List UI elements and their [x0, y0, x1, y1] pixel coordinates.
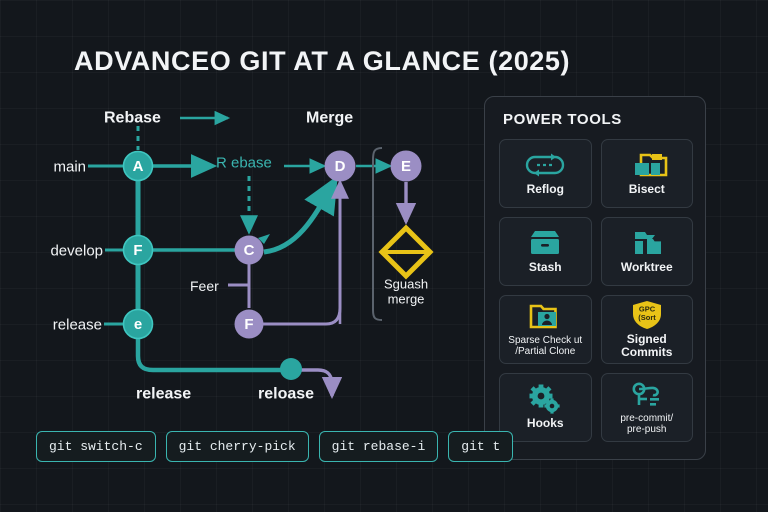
command-chip-row: git switch-c git cherry-pick git rebase-… — [36, 431, 513, 462]
commit-node-F-develop[interactable]: F — [124, 236, 153, 265]
shield-badge-line2: (Sort — [638, 313, 656, 322]
squash-merge-label-2: merge — [388, 292, 425, 307]
chip-git-rebase-i[interactable]: git rebase-i — [319, 431, 439, 462]
annotation-rebase-inline: R ebase — [216, 155, 272, 172]
squash-merge-label-1: Sguash — [384, 277, 428, 292]
tool-reflog-label: Reflog — [527, 183, 564, 196]
gears-icon — [527, 384, 563, 414]
squash-merge-diamond — [382, 228, 430, 276]
tool-pre-commit[interactable]: pre-commit/pre-push — [601, 373, 694, 442]
sparse-checkout-folder-icon — [525, 302, 565, 332]
signed-shield-icon: GPC (Sort — [630, 300, 664, 330]
annotation-rebase-top: Rebase — [104, 110, 161, 127]
hook-key-icon — [628, 380, 666, 410]
tool-pre-commit-label: pre-commit/pre-push — [620, 413, 673, 435]
annotation-release-left: release — [136, 386, 191, 403]
commit-node-F-feature-label: F — [244, 316, 253, 333]
power-tools-title: POWER TOOLS — [503, 111, 622, 128]
tool-reflog[interactable]: Reflog — [499, 139, 592, 208]
tool-bisect-label: Bisect — [629, 183, 665, 196]
stash-box-icon — [525, 228, 565, 258]
commit-node-A[interactable]: A — [124, 152, 153, 181]
commit-node-D-label: D — [335, 158, 346, 175]
commit-node-e-release-label: e — [134, 316, 142, 333]
tool-signed-commits[interactable]: GPC (Sort SignedCommits — [601, 295, 694, 364]
tool-worktree-label: Worktree — [621, 261, 673, 274]
reflog-loop-icon — [523, 150, 567, 180]
commit-node-E[interactable]: E — [391, 151, 422, 182]
commit-node-C[interactable]: C — [235, 236, 264, 265]
commit-node-e-release[interactable]: e — [124, 310, 153, 339]
annotation-feer: Feer — [190, 278, 219, 294]
squash-bracket — [373, 148, 382, 320]
tool-sparse-checkout-label: Sparse Check ut/Partial Clone — [508, 335, 582, 357]
commit-node-F-develop-label: F — [133, 242, 142, 259]
annotation-release-right: reloase — [258, 386, 314, 403]
c-to-d-merge-curve — [264, 182, 334, 252]
tool-hooks-label: Hooks — [527, 417, 564, 430]
chip-git-t[interactable]: git t — [448, 431, 513, 462]
commit-node-F-feature[interactable]: F — [235, 310, 264, 339]
branch-label-main: main — [53, 159, 86, 176]
branch-label-develop: develop — [50, 243, 103, 260]
chip-git-switch-c[interactable]: git switch-c — [36, 431, 156, 462]
commit-node-E-label: E — [401, 158, 411, 175]
commit-node-A-label: A — [133, 158, 144, 175]
release-merge-node — [280, 358, 302, 380]
power-tools-panel: POWER TOOLS Reflog — [484, 96, 706, 460]
worktree-icon — [627, 228, 667, 258]
branch-label-release: release — [53, 317, 102, 334]
release-line — [138, 338, 290, 370]
f2-to-d-line — [263, 182, 340, 324]
tool-worktree[interactable]: Worktree — [601, 217, 694, 286]
power-tools-grid: Reflog Bisect — [499, 139, 693, 442]
chip-git-cherry-pick[interactable]: git cherry-pick — [166, 431, 309, 462]
bisect-folders-icon — [625, 150, 669, 180]
annotation-merge: Merge — [306, 110, 353, 127]
tool-sparse-checkout[interactable]: Sparse Check ut/Partial Clone — [499, 295, 592, 364]
commit-node-C-label: C — [244, 242, 255, 259]
infographic-canvas: ADVANCEO GIT AT A GLANCE (2025) — [0, 0, 768, 512]
tool-bisect[interactable]: Bisect — [601, 139, 694, 208]
tool-stash-label: Stash — [529, 261, 562, 274]
commit-node-D[interactable]: D — [325, 151, 356, 182]
tool-signed-commits-label: SignedCommits — [621, 333, 672, 360]
tool-stash[interactable]: Stash — [499, 217, 592, 286]
